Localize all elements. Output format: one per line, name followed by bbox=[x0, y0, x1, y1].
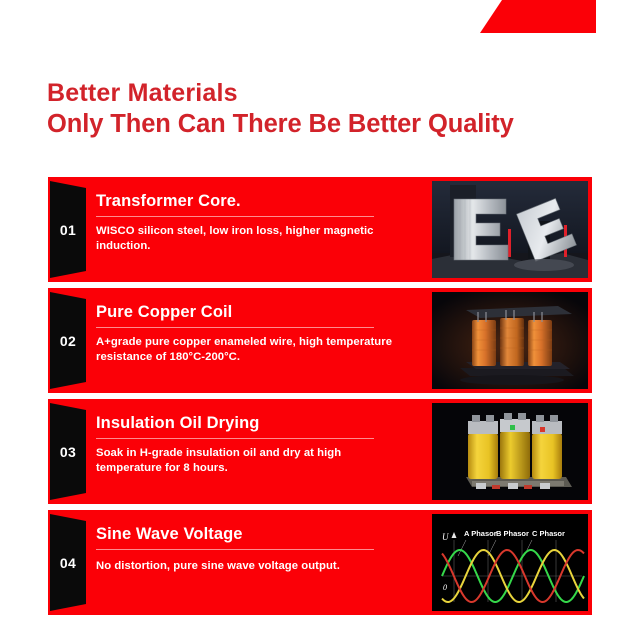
title-divider bbox=[96, 216, 374, 217]
card-body: Transformer Core. WISCO silicon steel, l… bbox=[96, 190, 426, 254]
silicon-steel-e-core-photo bbox=[432, 181, 588, 278]
card-number: 01 bbox=[50, 181, 86, 278]
feature-card[interactable]: 04 Sine Wave Voltage No distortion, pure… bbox=[48, 510, 592, 615]
chart-ylabel: U bbox=[442, 532, 449, 542]
feature-card[interactable]: 01 Transformer Core. WISCO silicon steel… bbox=[48, 177, 592, 282]
promo-page: Better Materials Only Then Can There Be … bbox=[0, 0, 640, 640]
card-description: A+grade pure copper enameled wire, high … bbox=[96, 335, 396, 365]
card-description: No distortion, pure sine wave voltage ou… bbox=[96, 559, 396, 574]
sine-wave-phasor-chart: U 0 A Phasor B Phasor C Phasor bbox=[432, 514, 588, 611]
headline-line-1: Better Materials bbox=[47, 78, 627, 109]
card-number: 04 bbox=[50, 514, 86, 611]
card-body: Insulation Oil Drying Soak in H-grade in… bbox=[96, 412, 426, 476]
copper-coil-photo bbox=[432, 292, 588, 389]
card-title: Transformer Core. bbox=[96, 190, 426, 212]
title-divider bbox=[96, 327, 374, 328]
chart-legend: A Phasor B Phasor C Phasor bbox=[464, 529, 565, 538]
card-number: 03 bbox=[50, 403, 86, 500]
title-divider bbox=[96, 549, 374, 550]
chart-origin-label: 0 bbox=[443, 583, 447, 592]
feature-card[interactable]: 03 Insulation Oil Drying Soak in H-grade… bbox=[48, 399, 592, 504]
card-body: Sine Wave Voltage No distortion, pure si… bbox=[96, 523, 426, 574]
card-description: WISCO silicon steel, low iron loss, high… bbox=[96, 224, 396, 254]
feature-card-list: 01 Transformer Core. WISCO silicon steel… bbox=[48, 177, 592, 621]
card-title: Pure Copper Coil bbox=[96, 301, 426, 323]
card-description: Soak in H-grade insulation oil and dry a… bbox=[96, 446, 396, 476]
card-body: Pure Copper Coil A+grade pure copper ena… bbox=[96, 301, 426, 365]
legend-b: B Phasor bbox=[496, 529, 529, 538]
card-title: Insulation Oil Drying bbox=[96, 412, 426, 434]
feature-card[interactable]: 02 Pure Copper Coil A+grade pure copper … bbox=[48, 288, 592, 393]
title-divider bbox=[96, 438, 374, 439]
red-angled-banner bbox=[480, 0, 596, 33]
legend-c: C Phasor bbox=[532, 529, 565, 538]
yellow-insulated-coil-photo bbox=[432, 403, 588, 500]
headline-line-2: Only Then Can There Be Better Quality bbox=[47, 109, 627, 140]
card-number: 02 bbox=[50, 292, 86, 389]
card-title: Sine Wave Voltage bbox=[96, 523, 426, 545]
page-title: Better Materials Only Then Can There Be … bbox=[47, 78, 627, 140]
legend-a: A Phasor bbox=[464, 529, 497, 538]
